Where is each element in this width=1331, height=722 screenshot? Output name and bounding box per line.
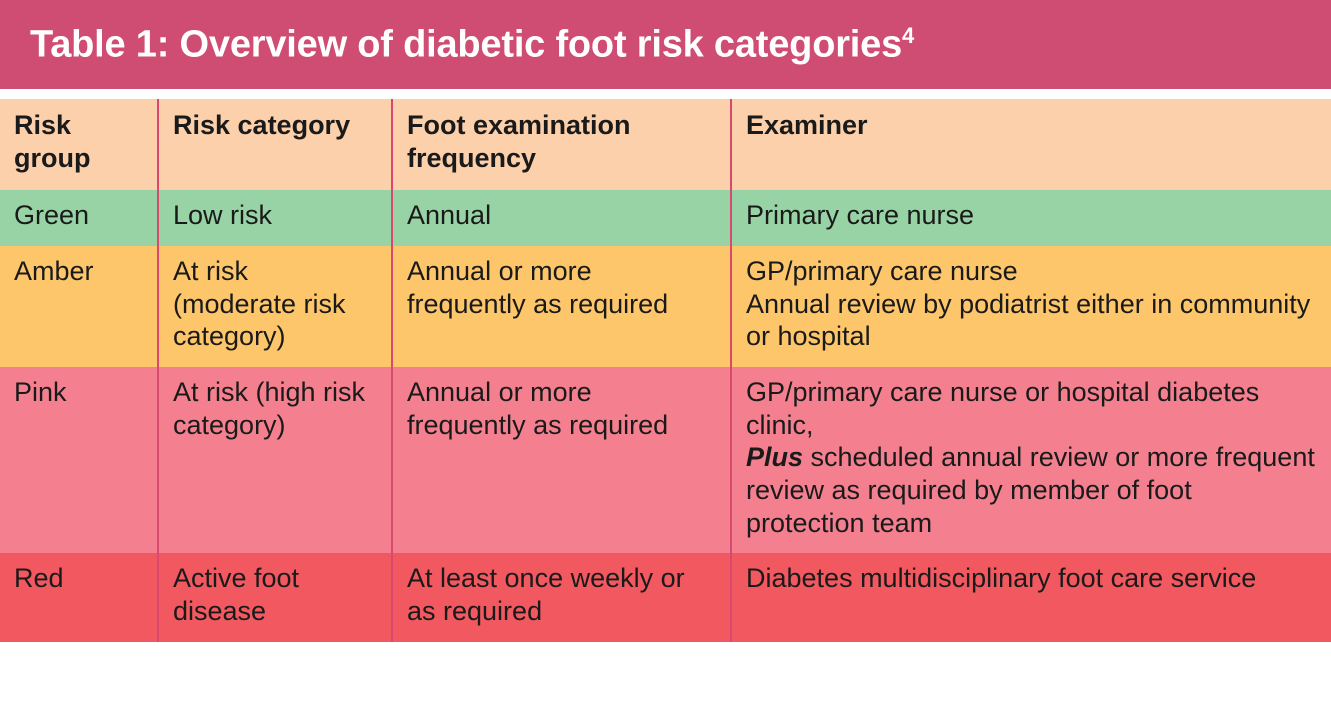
- cell-risk-category: Active foot disease: [158, 553, 392, 641]
- table-row: Green Low risk Annual Primary care nurse: [0, 190, 1331, 246]
- examiner-line: Diabetes multidisciplinary foot care ser…: [746, 562, 1317, 595]
- table-row: Amber At risk (moderate risk category) A…: [0, 246, 1331, 367]
- table-row: Pink At risk (high risk category) Annual…: [0, 367, 1331, 553]
- title-superscript-reference: 4: [902, 23, 914, 48]
- cell-frequency: Annual or more frequently as required: [392, 367, 731, 553]
- table-figure: Table 1: Overview of diabetic foot risk …: [0, 0, 1331, 722]
- cell-risk-category: At risk (moderate risk category): [158, 246, 392, 367]
- cell-examiner: Primary care nurse: [731, 190, 1331, 246]
- examiner-line: Annual review by podiatrist either in co…: [746, 288, 1317, 353]
- table-header: Risk group Risk category Foot examinatio…: [0, 99, 1331, 190]
- column-header-risk-group: Risk group: [0, 99, 158, 190]
- cell-examiner: GP/primary care nurse or hospital diabet…: [731, 367, 1331, 553]
- column-header-foot-examination-frequency: Foot examination frequency: [392, 99, 731, 190]
- cell-frequency: At least once weekly or as required: [392, 553, 731, 641]
- cell-risk-category: At risk (high risk category): [158, 367, 392, 553]
- cell-risk-group: Amber: [0, 246, 158, 367]
- cell-risk-group: Red: [0, 553, 158, 641]
- column-header-risk-category: Risk category: [158, 99, 392, 190]
- cell-risk-group: Pink: [0, 367, 158, 553]
- page-title: Table 1: Overview of diabetic foot risk …: [30, 23, 914, 67]
- cell-risk-group: Green: [0, 190, 158, 246]
- risk-categories-table: Risk group Risk category Foot examinatio…: [0, 99, 1331, 642]
- examiner-line: Primary care nurse: [746, 199, 1317, 232]
- cell-frequency: Annual or more frequently as required: [392, 246, 731, 367]
- table-header-row: Risk group Risk category Foot examinatio…: [0, 99, 1331, 190]
- cell-risk-category: Low risk: [158, 190, 392, 246]
- examiner-line: GP/primary care nurse or hospital diabet…: [746, 376, 1317, 441]
- plus-emphasis: Plus: [746, 442, 803, 472]
- cell-frequency: Annual: [392, 190, 731, 246]
- examiner-line-remainder: scheduled annual review or more frequent…: [746, 442, 1315, 537]
- column-header-examiner: Examiner: [731, 99, 1331, 190]
- cell-examiner: Diabetes multidisciplinary foot care ser…: [731, 553, 1331, 641]
- title-body-divider: [0, 89, 1331, 99]
- table-row: Red Active foot disease At least once we…: [0, 553, 1331, 641]
- table-body: Green Low risk Annual Primary care nurse…: [0, 190, 1331, 641]
- examiner-line: GP/primary care nurse: [746, 255, 1317, 288]
- examiner-line-emphasised: Plus scheduled annual review or more fre…: [746, 441, 1317, 539]
- table-title-label: Table 1: Overview of diabetic foot risk …: [30, 23, 902, 65]
- cell-examiner: GP/primary care nurse Annual review by p…: [731, 246, 1331, 367]
- table-title-bar: Table 1: Overview of diabetic foot risk …: [0, 0, 1331, 89]
